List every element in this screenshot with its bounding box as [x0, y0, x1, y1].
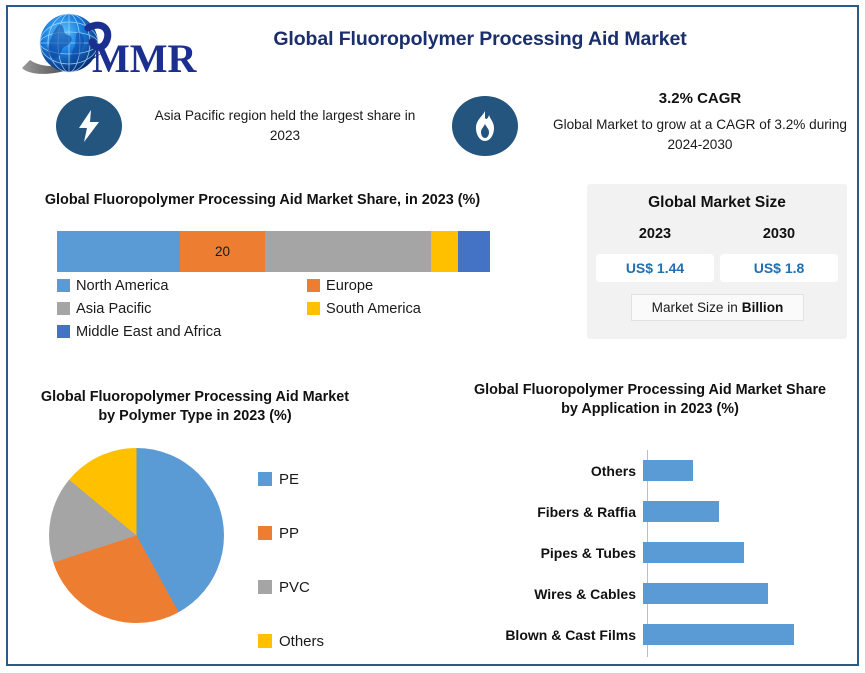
cagr-heading: 3.2% CAGR: [540, 90, 860, 107]
logo-brand-text: MMR: [92, 36, 198, 81]
bar-label: Pipes & Tubes: [470, 545, 642, 561]
bar-label: Fibers & Raffia: [470, 504, 642, 520]
lightning-bolt-icon: [56, 96, 122, 156]
legend-label: PE: [279, 471, 299, 488]
legend-swatch: [57, 302, 70, 315]
legend-item-north-america: North America: [57, 274, 307, 297]
stacked-bar-segment: [265, 231, 431, 272]
bar-segment: [643, 501, 719, 522]
bar-segment: [643, 460, 693, 481]
stacked-bar-segment: 20: [180, 231, 265, 272]
legend-swatch: [258, 580, 272, 594]
regional-share-title: Global Fluoropolymer Processing Aid Mark…: [35, 191, 490, 210]
polymer-type-title: Global Fluoropolymer Processing Aid Mark…: [35, 388, 355, 426]
legend-swatch: [307, 279, 320, 292]
legend-label: Europe: [326, 278, 373, 294]
bar-label: Wires & Cables: [470, 586, 642, 602]
legend-label: Others: [279, 633, 324, 650]
cagr-description: Global Market to grow at a CAGR of 3.2% …: [540, 115, 860, 154]
mmr-logo: MMR: [16, 10, 206, 82]
legend-swatch: [258, 526, 272, 540]
legend-swatch: [258, 634, 272, 648]
market-size-value-2030: US$ 1.8: [720, 254, 838, 282]
market-size-year-2030: 2030: [719, 226, 839, 242]
flame-icon: [452, 96, 518, 156]
market-size-unit-note: Market Size in Billion: [631, 294, 804, 321]
table-row: Wires & Cables: [470, 573, 840, 614]
legend-item-others: Others: [258, 614, 388, 668]
bar-label: Others: [470, 463, 642, 479]
bar-segment: [643, 542, 744, 563]
page-title: Global Fluoropolymer Processing Aid Mark…: [230, 28, 730, 51]
global-market-size-panel: Global Market Size 2023 2030 US$ 1.44 US…: [587, 184, 847, 339]
legend-item-south-america: South America: [307, 297, 497, 320]
table-row: Others: [470, 450, 840, 491]
table-row: Pipes & Tubes: [470, 532, 840, 573]
bar-segment: [643, 624, 794, 645]
infographic-page: MMR Global Fluoropolymer Processing Aid …: [0, 0, 865, 673]
legend-item-pe: PE: [258, 452, 388, 506]
polymer-type-legend: PE PP PVC Others: [258, 452, 388, 668]
legend-swatch: [307, 302, 320, 315]
legend-item-middle-east-and-africa: Middle East and Africa: [57, 320, 307, 343]
bar-label: Blown & Cast Films: [470, 627, 642, 643]
legend-label: Asia Pacific: [76, 301, 151, 317]
application-share-bar-chart: Others Fibers & Raffia Pipes & Tubes Wir…: [470, 450, 840, 662]
legend-label: PVC: [279, 579, 310, 596]
asia-pacific-highlight-text: Asia Pacific region held the largest sha…: [140, 106, 430, 145]
legend-label: North America: [76, 278, 168, 294]
lightning-bolt-glyph: [76, 109, 102, 143]
application-share-title: Global Fluoropolymer Processing Aid Mark…: [470, 381, 830, 419]
market-size-panel-title: Global Market Size: [587, 194, 847, 212]
table-row: Fibers & Raffia: [470, 491, 840, 532]
legend-label: South America: [326, 301, 421, 317]
legend-swatch: [258, 472, 272, 486]
legend-item-asia-pacific: Asia Pacific: [57, 297, 307, 320]
stacked-bar-segment: [431, 231, 459, 272]
legend-label: Middle East and Africa: [76, 324, 221, 340]
market-size-unit-value: Billion: [742, 300, 784, 315]
legend-item-europe: Europe: [307, 274, 497, 297]
legend-label: PP: [279, 525, 299, 542]
bar-segment: [643, 583, 768, 604]
regional-share-stacked-bar: 20: [57, 231, 490, 272]
flame-glyph: [472, 110, 498, 142]
legend-swatch: [57, 325, 70, 338]
legend-item-pvc: PVC: [258, 560, 388, 614]
market-size-value-2023: US$ 1.44: [596, 254, 714, 282]
stacked-bar-segment: [458, 231, 490, 272]
legend-item-pp: PP: [258, 506, 388, 560]
market-size-year-2023: 2023: [595, 226, 715, 242]
polymer-type-pie-chart: [49, 448, 224, 623]
table-row: Blown & Cast Films: [470, 614, 840, 655]
legend-swatch: [57, 279, 70, 292]
market-size-unit-prefix: Market Size in: [652, 300, 738, 315]
stacked-bar-segment: [57, 231, 180, 272]
regional-share-legend: North America Europe Asia Pacific South …: [57, 274, 497, 343]
globe-icon: MMR: [16, 10, 206, 82]
